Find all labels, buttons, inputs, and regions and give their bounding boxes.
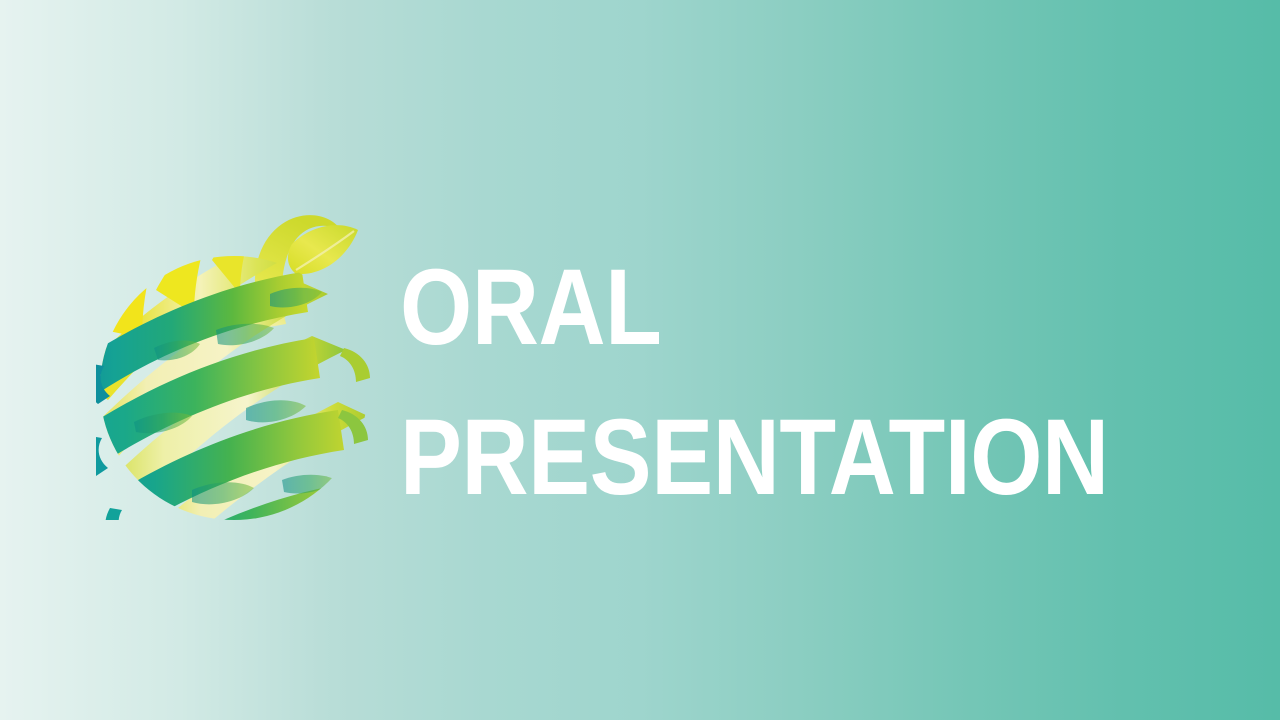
title-line-oral: ORAL — [400, 232, 1088, 382]
globe-ribbon-leaf-logo — [96, 198, 376, 520]
title-slide: ORAL PRESENTATION — [0, 0, 1280, 720]
slide-title: ORAL PRESENTATION — [400, 232, 1200, 532]
title-line-presentation: PRESENTATION — [400, 382, 1088, 532]
